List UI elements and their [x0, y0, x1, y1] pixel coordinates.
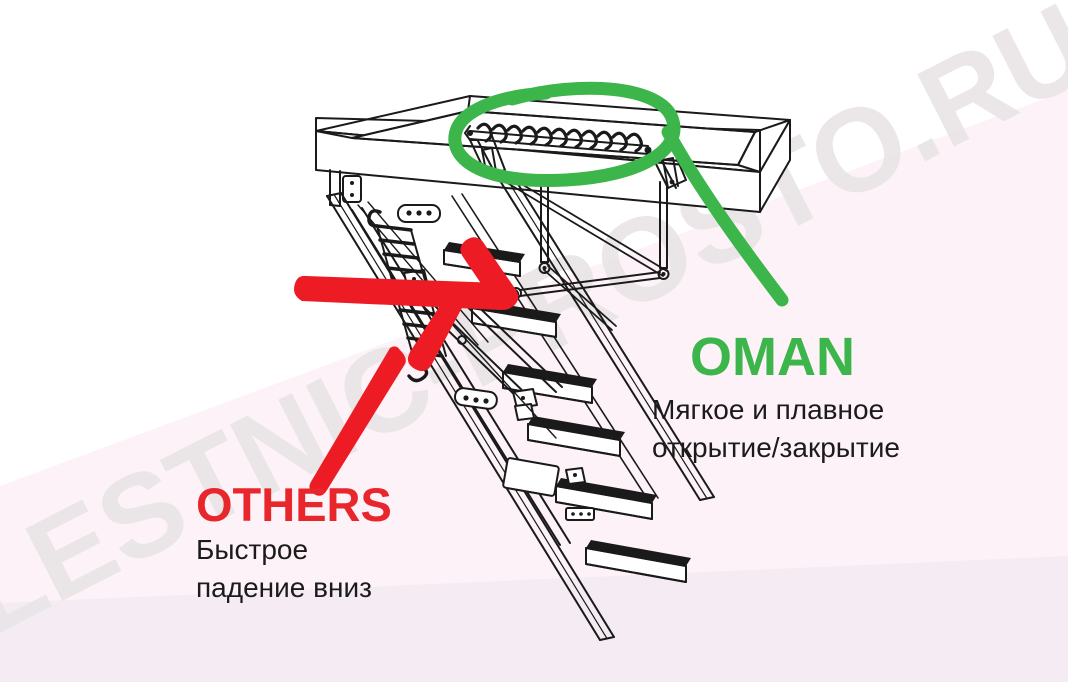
others-description-line1: Быстрое — [196, 534, 308, 566]
green-callout-annotation — [0, 0, 1068, 682]
oman-description-line1: Мягкое и плавное — [652, 394, 884, 426]
oman-title: OMAN — [690, 326, 855, 388]
green-ellipse — [455, 88, 674, 180]
others-description-line2: падение вниз — [196, 572, 372, 604]
green-leader-line — [668, 132, 782, 300]
others-title: OTHERS — [196, 477, 392, 532]
oman-description-line2: открытие/закрытие — [652, 432, 900, 464]
comparison-infographic: LESTNIC-PROSTO.RU — [0, 0, 1068, 682]
